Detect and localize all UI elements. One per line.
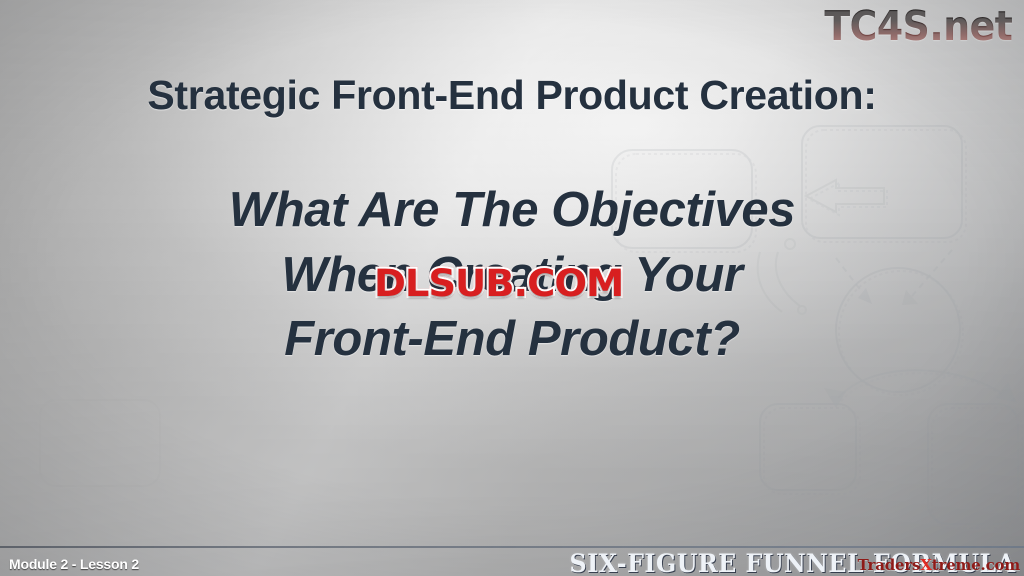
lesson-label: Module 2 - Lesson 2 — [9, 556, 139, 572]
question-line-3: Front-End Product? — [40, 307, 984, 372]
presentation-slide: TC4S.net Strategic Front-End Product Cre… — [0, 0, 1024, 576]
tradersxtreme-watermark: TradersXtreme.com — [858, 556, 1020, 574]
dlsub-watermark-text: DLSUB.COM — [374, 262, 623, 305]
question-line-1: What Are The Objectives — [40, 178, 984, 243]
dlsub-watermark: DLSUB.COM — [374, 262, 623, 305]
tx-highlight: X — [920, 556, 931, 574]
footer-bar: SIX-FIGURE FUNNEL FORMULA Module 2 - Les… — [0, 548, 1024, 576]
tx-suffix: treme.com — [932, 556, 1020, 574]
slide-title: Strategic Front-End Product Creation: — [0, 72, 1024, 119]
tc4s-logo: TC4S.net — [824, 2, 1012, 50]
tx-prefix: Traders — [858, 556, 921, 574]
